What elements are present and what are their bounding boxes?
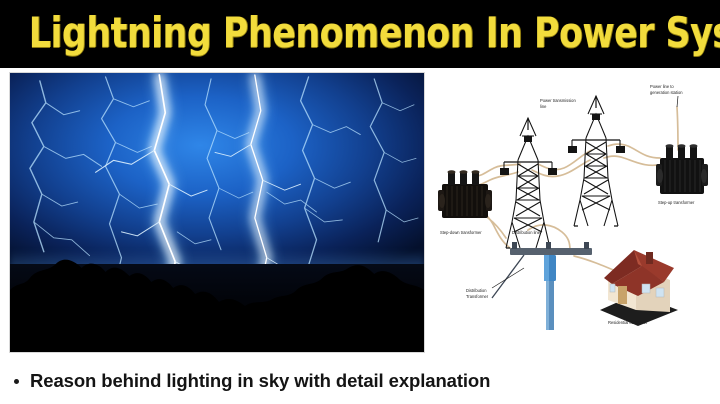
lightning-photo <box>9 72 425 353</box>
distribution-pole <box>492 242 592 330</box>
slide-canvas: Lightning Phenomenon In Power System <box>0 0 720 404</box>
treeline-silhouette <box>10 242 424 352</box>
residential-house <box>600 250 678 326</box>
diagram-svg: Power line to generation station Step-up… <box>432 72 716 330</box>
bullet-marker-icon <box>14 379 19 384</box>
label-step-down-transformer: Step-down transformer <box>440 230 482 235</box>
transmission-tower-left <box>500 118 557 248</box>
bullet-row: Reason behind lighting in sky with detai… <box>0 364 720 398</box>
bullet-text: Reason behind lighting in sky with detai… <box>30 370 490 392</box>
label-distribution-transformer-2: Transformer <box>466 294 489 299</box>
label-distribution-transformer-1: Distribution <box>466 288 487 293</box>
label-power-transmission-line-1: Power transmission <box>540 98 576 103</box>
power-lines <box>472 107 678 272</box>
label-power-line-generation-2: generation station <box>650 90 683 95</box>
page-title: Lightning Phenomenon In Power System <box>29 6 691 60</box>
step-down-transformer <box>438 170 492 218</box>
label-power-line-generation-1: Power line to <box>650 84 674 89</box>
power-system-diagram: Power line to generation station Step-up… <box>432 72 716 330</box>
step-up-transformer <box>656 144 708 194</box>
title-band: Lightning Phenomenon In Power System <box>0 0 720 68</box>
label-step-up-transformer: Step-up transformer <box>658 200 695 205</box>
label-residential-consumer: Residential consumer <box>608 320 648 325</box>
label-distribution-line: Distribution line <box>512 230 541 235</box>
label-power-transmission-line-2: line <box>540 104 547 109</box>
